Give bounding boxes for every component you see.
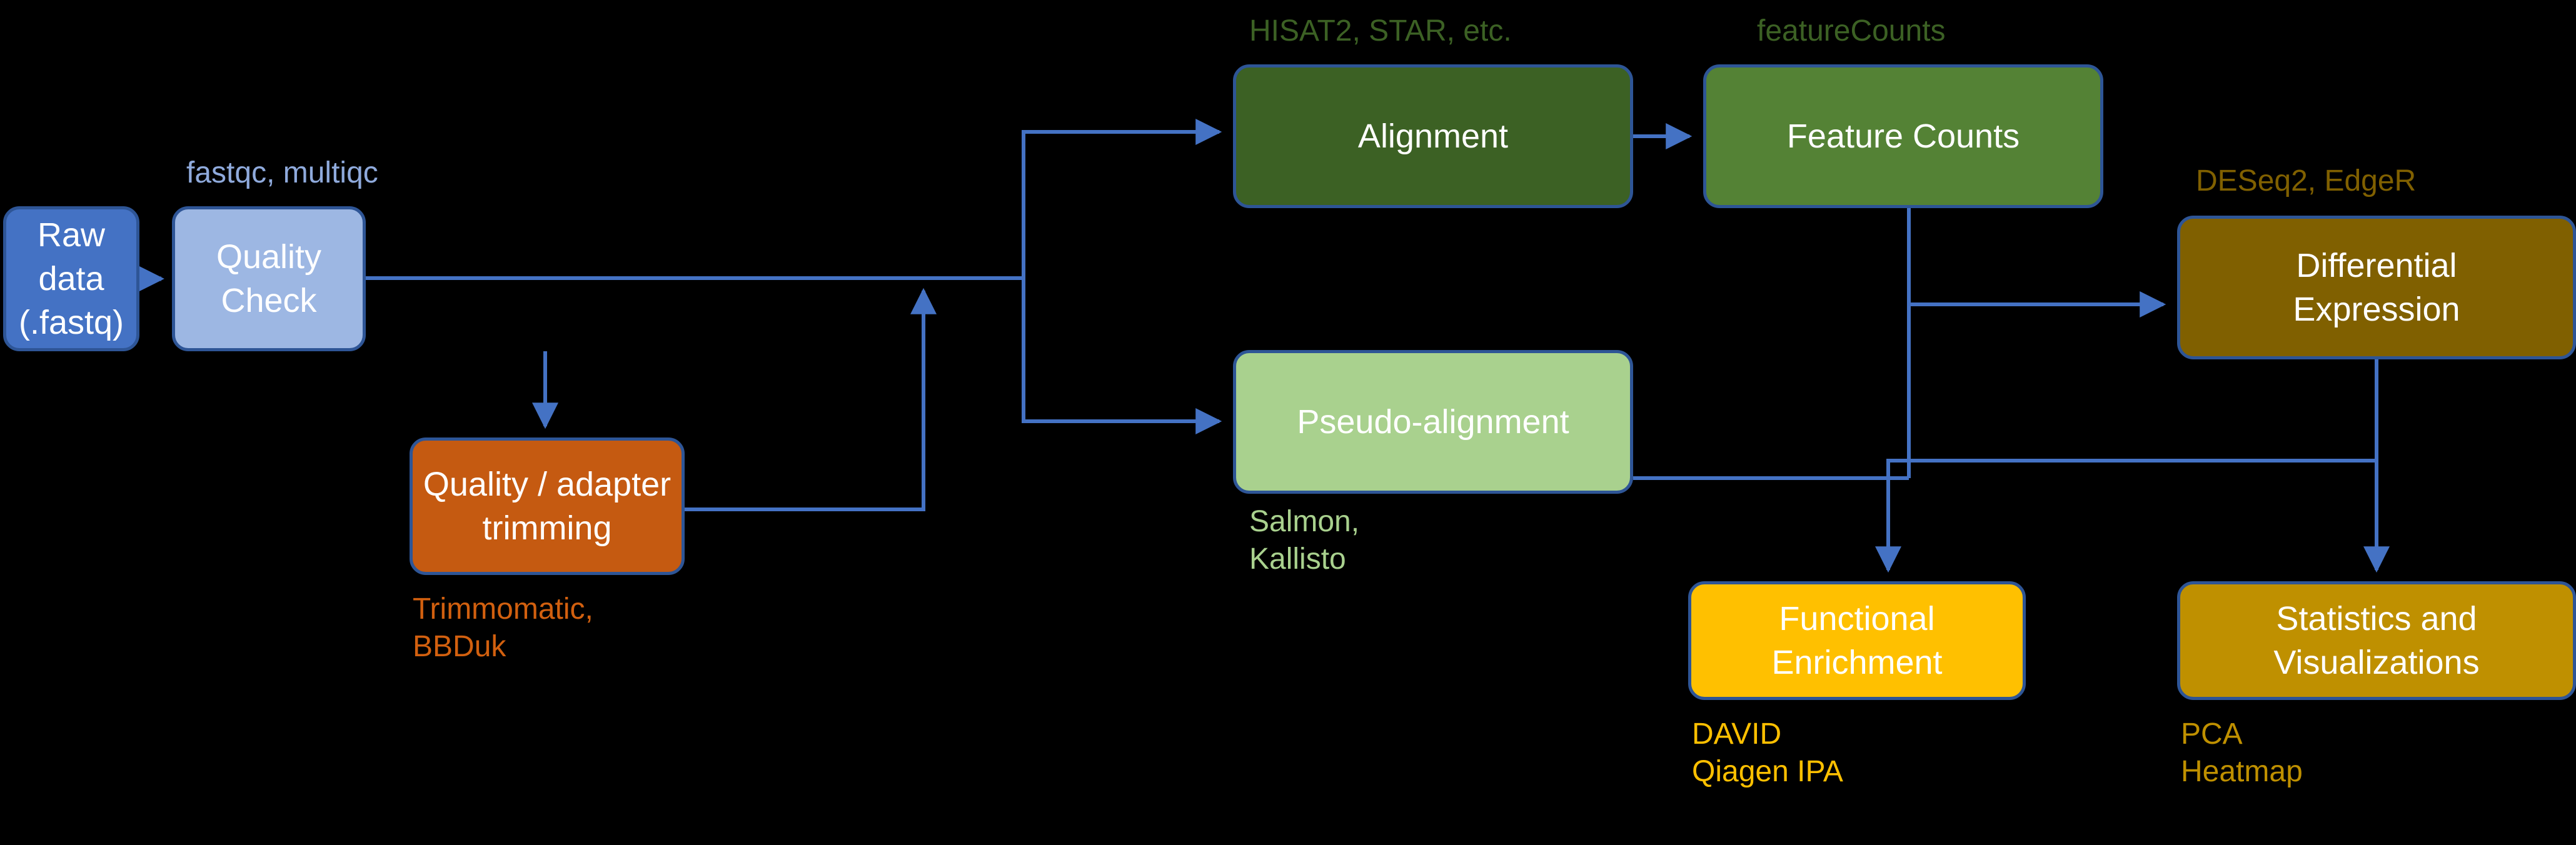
node-quality-check[interactable]: Quality Check: [172, 206, 366, 351]
node-pseudo-alignment-label: Pseudo-alignment: [1245, 400, 1621, 444]
node-quality-check-label: Quality Check: [184, 235, 354, 322]
caption-pseudo-alignment-tools: Salmon, Kallisto: [1249, 503, 1359, 579]
node-raw-data-label: Raw data (.fastq): [15, 213, 128, 345]
caption-functional-enrichment-tools: DAVID Qiagen IPA: [1692, 716, 1843, 791]
node-statistics-visualizations-label: Statistics and Visualizations: [2189, 597, 2564, 684]
edge-differential-to-functional: [1888, 461, 2377, 570]
node-trimming-label: Quality / adapter trimming: [421, 462, 673, 550]
node-alignment-label: Alignment: [1245, 114, 1621, 158]
node-alignment[interactable]: Alignment: [1233, 64, 1633, 208]
edge-featurecounts-to-differential: [1909, 208, 2163, 304]
caption-feature-counts-tools: featureCounts: [1757, 12, 1946, 50]
node-statistics-visualizations[interactable]: Statistics and Visualizations: [2177, 581, 2576, 700]
node-trimming[interactable]: Quality / adapter trimming: [410, 437, 685, 575]
caption-statistics-tools: PCA Heatmap: [2181, 716, 2303, 791]
caption-alignment-tools: HISAT2, STAR, etc.: [1249, 12, 1512, 50]
caption-quality-check-tools: fastqc, multiqc: [186, 154, 378, 192]
edge-qc-to-alignment: [1024, 132, 1219, 278]
node-feature-counts[interactable]: Feature Counts: [1703, 64, 2103, 208]
node-raw-data[interactable]: Raw data (.fastq): [3, 206, 139, 351]
edge-qc-to-pseudo: [1024, 278, 1219, 421]
node-functional-enrichment-label: Functional Enrichment: [1700, 597, 2014, 684]
caption-differential-expression-tools: DESeq2, EdgeR: [2196, 162, 2416, 200]
caption-trimming-tools: Trimmomatic, BBDuk: [413, 591, 593, 666]
node-functional-enrichment[interactable]: Functional Enrichment: [1688, 581, 2026, 700]
edge-trimming-feedback: [685, 291, 923, 509]
workflow-diagram-canvas: Raw data (.fastq) Quality Check Quality …: [0, 0, 2576, 845]
node-pseudo-alignment[interactable]: Pseudo-alignment: [1233, 350, 1633, 494]
node-feature-counts-label: Feature Counts: [1715, 114, 2091, 158]
node-differential-expression-label: Differential Expression: [2189, 244, 2564, 331]
node-differential-expression[interactable]: Differential Expression: [2177, 216, 2576, 359]
